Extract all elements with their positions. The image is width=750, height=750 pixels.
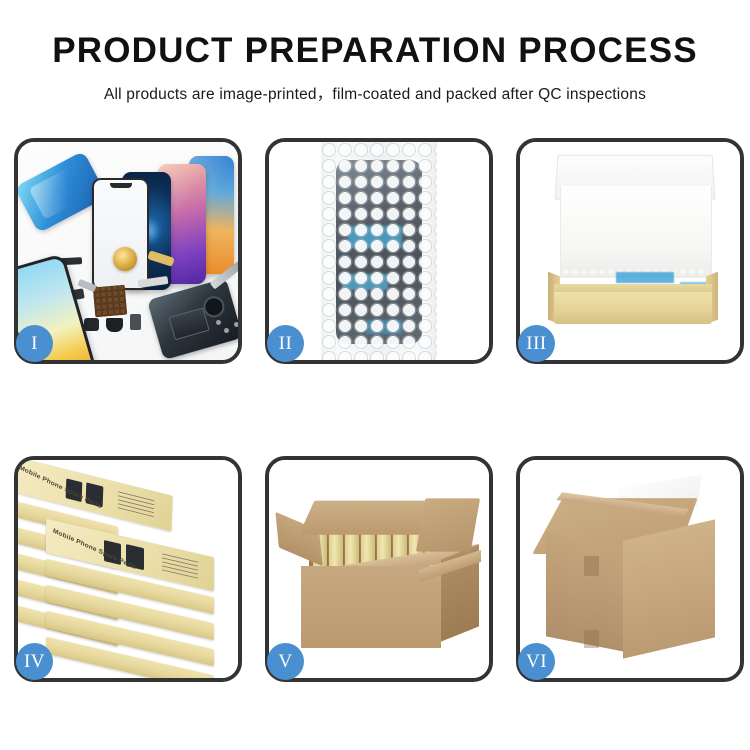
step-badge-6: VI	[518, 643, 555, 680]
step-badge-5: V	[267, 643, 304, 680]
product-preparation-infographic: PRODUCT PREPARATION PROCESS All products…	[0, 0, 750, 750]
sealed-carton-right-face	[623, 519, 715, 658]
speaker-coil-part	[113, 247, 137, 271]
box-front-panel	[554, 292, 712, 324]
step-badge-3: III	[518, 325, 555, 362]
screen-notch	[110, 183, 132, 188]
box-stack: Mobile Phone Spare Parts Mobile Phone Sp…	[18, 460, 238, 678]
bubble-highlights	[321, 142, 437, 360]
tempered-glass-screen	[92, 178, 149, 290]
carton-tab-upper	[584, 556, 599, 576]
steps-grid: I II	[14, 138, 736, 682]
screw-3	[216, 320, 221, 325]
step-panel-5: V	[265, 456, 493, 682]
step-image-4: Mobile Phone Spare Parts Mobile Phone Sp…	[18, 460, 238, 678]
disassembled-phone-back	[147, 278, 238, 360]
carton-tab-lower	[584, 630, 599, 648]
battery-part	[168, 307, 209, 340]
carton-flap-right	[416, 498, 480, 551]
box-foam-lining	[560, 186, 712, 278]
step-image-6	[520, 460, 740, 678]
step-image-3	[520, 142, 740, 360]
step-badge-2: II	[267, 325, 304, 362]
screw-2	[234, 322, 238, 327]
page-subtitle: All products are image-printed，film-coat…	[0, 82, 750, 104]
header: PRODUCT PREPARATION PROCESS All products…	[0, 0, 750, 104]
step-panel-6: VI	[516, 456, 744, 682]
step-panel-3: III	[516, 138, 744, 364]
chip-grid-part	[93, 285, 127, 318]
step-image-5	[269, 460, 489, 678]
step-badge-1: I	[16, 325, 53, 362]
step-panel-2: II	[265, 138, 493, 364]
content-blue-accent-1	[616, 272, 674, 283]
vibrator-part	[106, 318, 123, 332]
screw-1	[224, 328, 229, 333]
connector-part-3	[130, 314, 141, 330]
step-panel-4: Mobile Phone Spare Parts Mobile Phone Sp…	[14, 456, 242, 682]
step-panel-1: I	[14, 138, 242, 364]
step-badge-4: IV	[16, 643, 53, 680]
carton-flap-back	[299, 501, 428, 535]
step-image-1	[18, 142, 238, 360]
page-title: PRODUCT PREPARATION PROCESS	[0, 33, 750, 68]
connector-part-2	[84, 318, 99, 331]
step-image-2	[269, 142, 489, 360]
